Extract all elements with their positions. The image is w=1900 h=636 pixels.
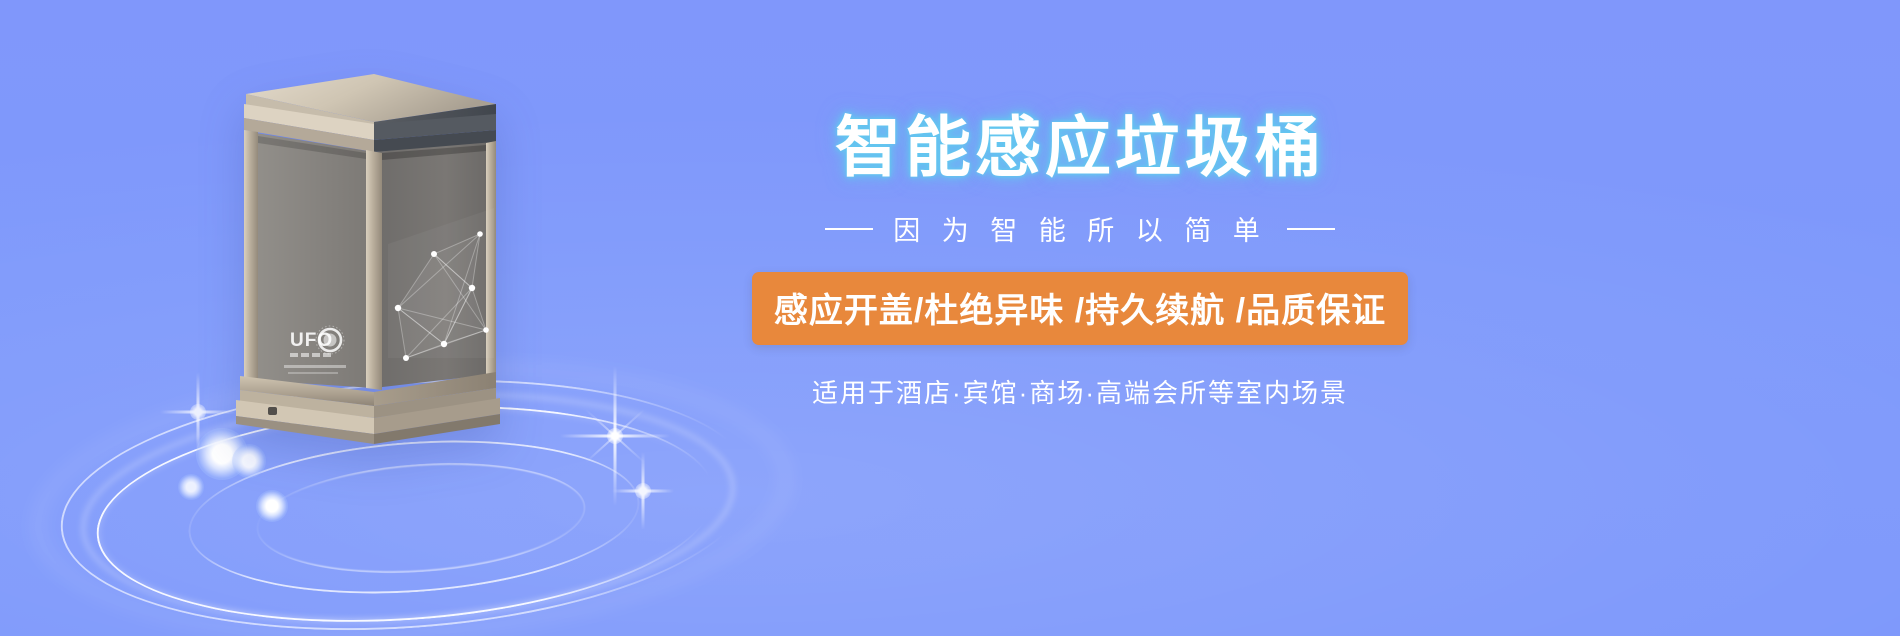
headline-title: 智能感应垃圾桶 — [730, 112, 1430, 183]
glow-orb-icon — [178, 474, 204, 500]
ripple-ring-innermost — [253, 453, 590, 584]
copy-block: 智能感应垃圾桶 因 为 智 能 所 以 简 单 感应开盖/杜绝异味 /持久续航 … — [730, 112, 1430, 410]
ripple-ring-inner — [183, 426, 644, 607]
sparkle-star-icon — [560, 366, 670, 506]
subheadline: 因 为 智 能 所 以 简 单 — [730, 209, 1430, 248]
rule-left-icon — [825, 228, 873, 230]
rule-right-icon — [1287, 228, 1335, 230]
scenes-text: 适用于酒店·宾馆·商场·高端会所等室内场景 — [730, 373, 1430, 410]
sparkle-star-icon — [612, 452, 674, 530]
product-image-trash-can: UFO — [238, 58, 498, 448]
glow-orb-icon — [232, 444, 266, 478]
feature-bar: 感应开盖/杜绝异味 /持久续航 /品质保证 — [752, 272, 1408, 345]
subheadline-text: 因 为 智 能 所 以 简 单 — [893, 209, 1267, 248]
glow-orb-icon — [256, 490, 288, 522]
sparkle-star-icon — [160, 372, 236, 452]
promo-banner: UFO 智能感应垃圾桶 — [0, 0, 1900, 636]
